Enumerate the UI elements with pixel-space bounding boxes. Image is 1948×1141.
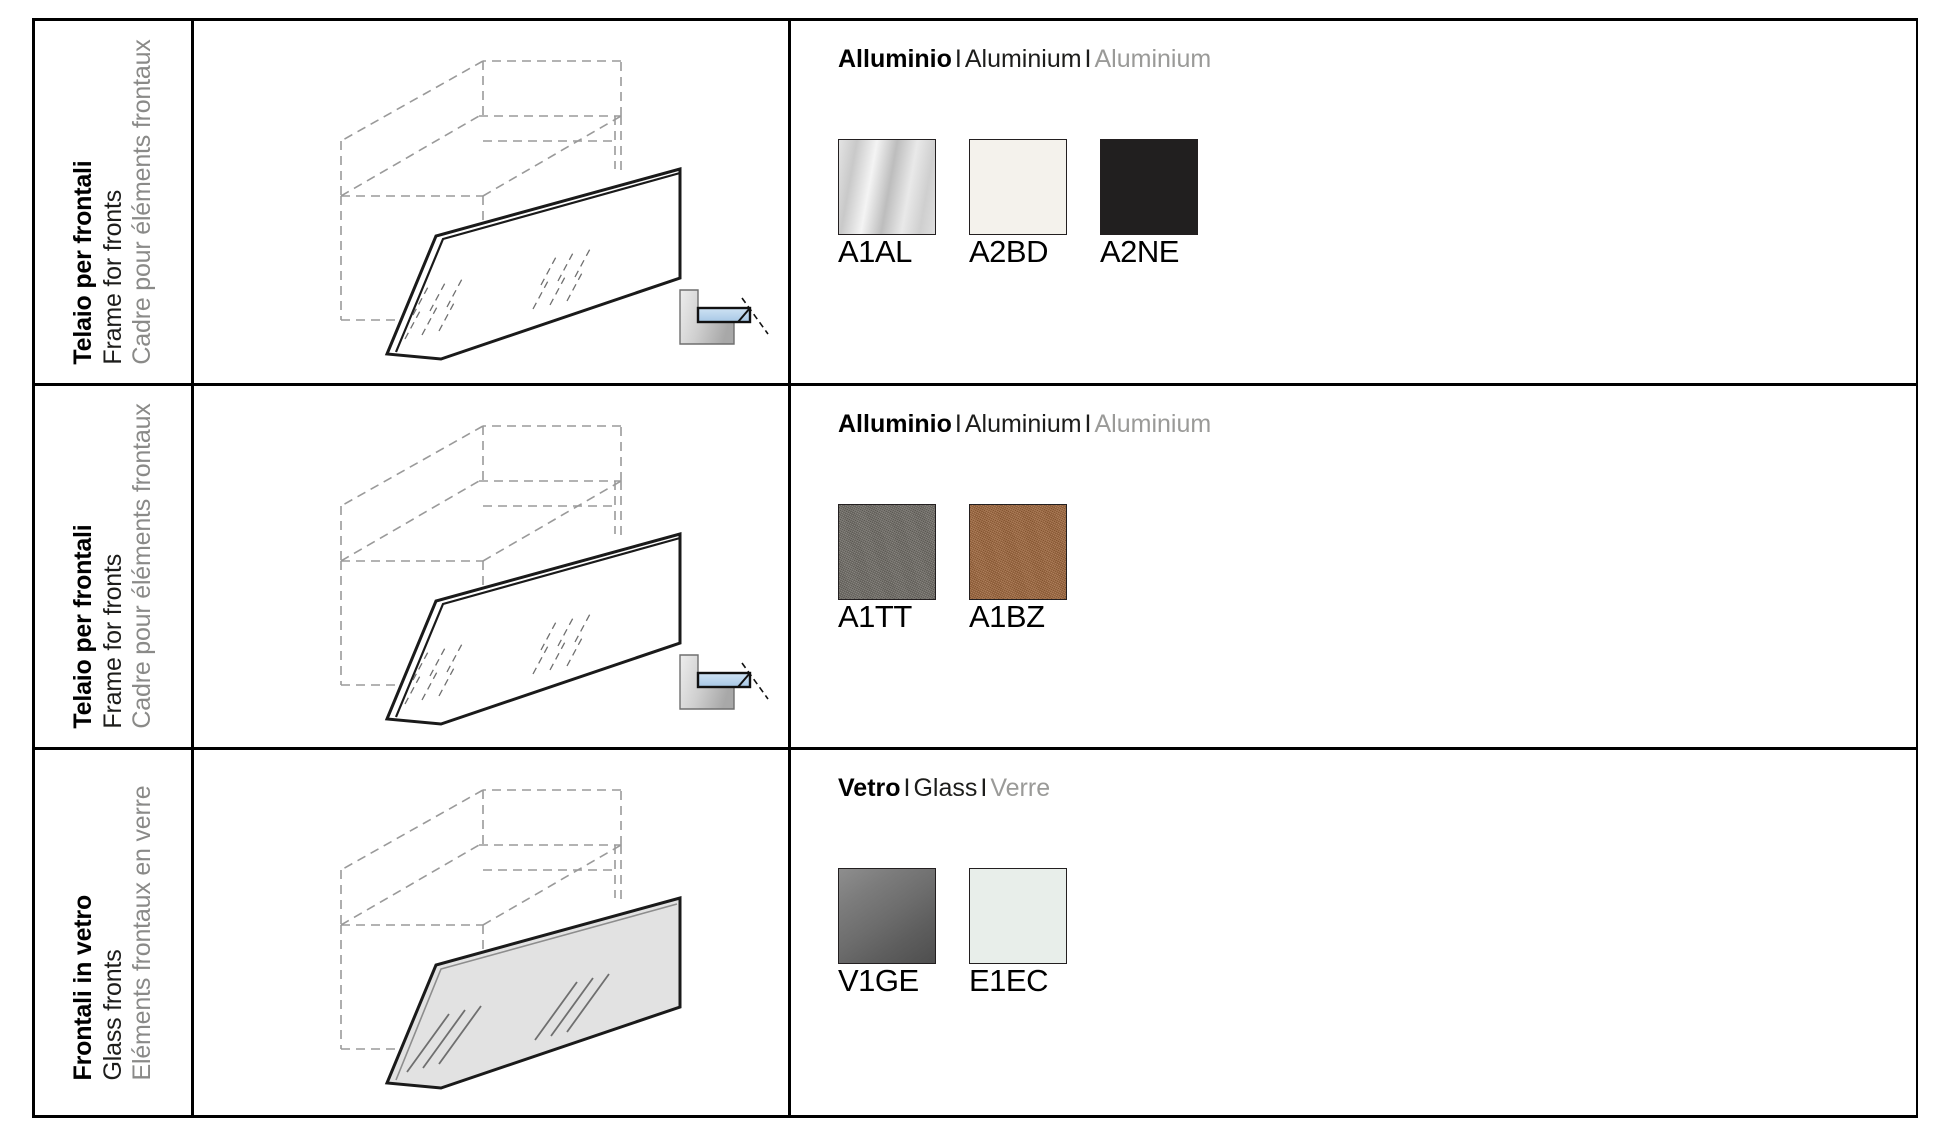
drawing-cell: [191, 386, 788, 748]
swatch-list: A1TT A1BZ: [838, 504, 1069, 634]
material-name-english: Aluminium: [965, 45, 1082, 73]
caption-rotated: Frontali in vetro Glass fronts Eléments …: [69, 785, 158, 1080]
material-name-italian: Vetro: [838, 774, 901, 802]
material-name-english: Aluminium: [965, 410, 1082, 438]
material-name-french: Aluminium: [1095, 410, 1212, 438]
caption-italian: Telaio per frontali: [69, 160, 99, 364]
finishes-cell: AlluminioIAluminiumIAluminium A1AL A2BD …: [788, 21, 1916, 383]
table-row: Telaio per frontali Frame for fronts Cad…: [35, 386, 1916, 751]
caption-french: Eléments frontaux en verre: [128, 785, 158, 1080]
swatch-code: V1GE: [838, 965, 938, 998]
swatch-chip: [969, 868, 1067, 964]
caption-rotated: Telaio per frontali Frame for fronts Cad…: [69, 39, 158, 364]
swatch-item[interactable]: V1GE: [838, 868, 938, 998]
swatch-list: V1GE E1EC: [838, 868, 1069, 998]
drawing-cell: [191, 21, 788, 383]
heading-separator: I: [952, 45, 965, 73]
finish-specification-table: Telaio per frontali Frame for fronts Cad…: [32, 18, 1918, 1118]
heading-separator: I: [977, 774, 990, 802]
heading-separator: I: [952, 410, 965, 438]
element-caption-cell: Frontali in vetro Glass fronts Eléments …: [35, 750, 191, 1115]
caption-italian: Telaio per frontali: [69, 525, 99, 729]
material-name-italian: Alluminio: [838, 410, 952, 438]
material-name-english: Glass: [913, 774, 977, 802]
swatch-item[interactable]: E1EC: [969, 868, 1069, 998]
heading-separator: I: [901, 774, 914, 802]
swatch-chip: [969, 504, 1067, 600]
heading-separator: I: [1082, 410, 1095, 438]
caption-italian: Frontali in vetro: [69, 895, 99, 1081]
swatch-code: A1AL: [838, 236, 938, 269]
caption-english: Frame for fronts: [98, 190, 128, 365]
material-name-italian: Alluminio: [838, 45, 952, 73]
swatch-item[interactable]: A2BD: [969, 139, 1069, 269]
material-name-french: Verre: [990, 774, 1050, 802]
swatch-item[interactable]: A1AL: [838, 139, 938, 269]
caption-rotated: Telaio per frontali Frame for fronts Cad…: [69, 404, 158, 729]
swatch-code: A2NE: [1100, 236, 1200, 269]
material-name-french: Aluminium: [1095, 45, 1212, 73]
finishes-cell: AlluminioIAluminiumIAluminium A1TT A1BZ: [788, 386, 1916, 748]
caption-english: Glass fronts: [98, 949, 128, 1080]
heading-separator: I: [1082, 45, 1095, 73]
element-caption-cell: Telaio per frontali Frame for fronts Cad…: [35, 386, 191, 748]
table-row: Telaio per frontali Frame for fronts Cad…: [35, 21, 1916, 386]
swatch-list: A1AL A2BD A2NE: [838, 139, 1200, 269]
swatch-item[interactable]: A2NE: [1100, 139, 1200, 269]
swatch-chip: [1100, 139, 1198, 235]
element-caption-cell: Telaio per frontali Frame for fronts Cad…: [35, 21, 191, 383]
swatch-code: A1TT: [838, 601, 938, 634]
catalog-page: Telaio per frontali Frame for fronts Cad…: [0, 0, 1948, 1141]
swatch-chip: [969, 139, 1067, 235]
caption-french: Cadre pour éléments frontaux: [128, 404, 158, 729]
finishes-cell: VetroIGlassIVerre V1GE E1EC: [788, 750, 1916, 1115]
swatch-item[interactable]: A1BZ: [969, 504, 1069, 634]
drawing-cell: [191, 750, 788, 1115]
swatch-code: A2BD: [969, 236, 1069, 269]
swatch-chip: [838, 504, 936, 600]
swatch-code: E1EC: [969, 965, 1069, 998]
swatch-code: A1BZ: [969, 601, 1069, 634]
caption-english: Frame for fronts: [98, 554, 128, 729]
material-heading: AlluminioIAluminiumIAluminium: [838, 410, 1211, 439]
caption-french: Cadre pour éléments frontaux: [128, 39, 158, 364]
swatch-chip: [838, 868, 936, 964]
material-heading: AlluminioIAluminiumIAluminium: [838, 45, 1211, 74]
material-heading: VetroIGlassIVerre: [838, 774, 1050, 803]
table-row: Frontali in vetro Glass fronts Eléments …: [35, 750, 1916, 1115]
wall-cabinet-glass-front-isometric-icon: [191, 750, 788, 1116]
swatch-item[interactable]: A1TT: [838, 504, 938, 634]
swatch-chip: [838, 139, 936, 235]
